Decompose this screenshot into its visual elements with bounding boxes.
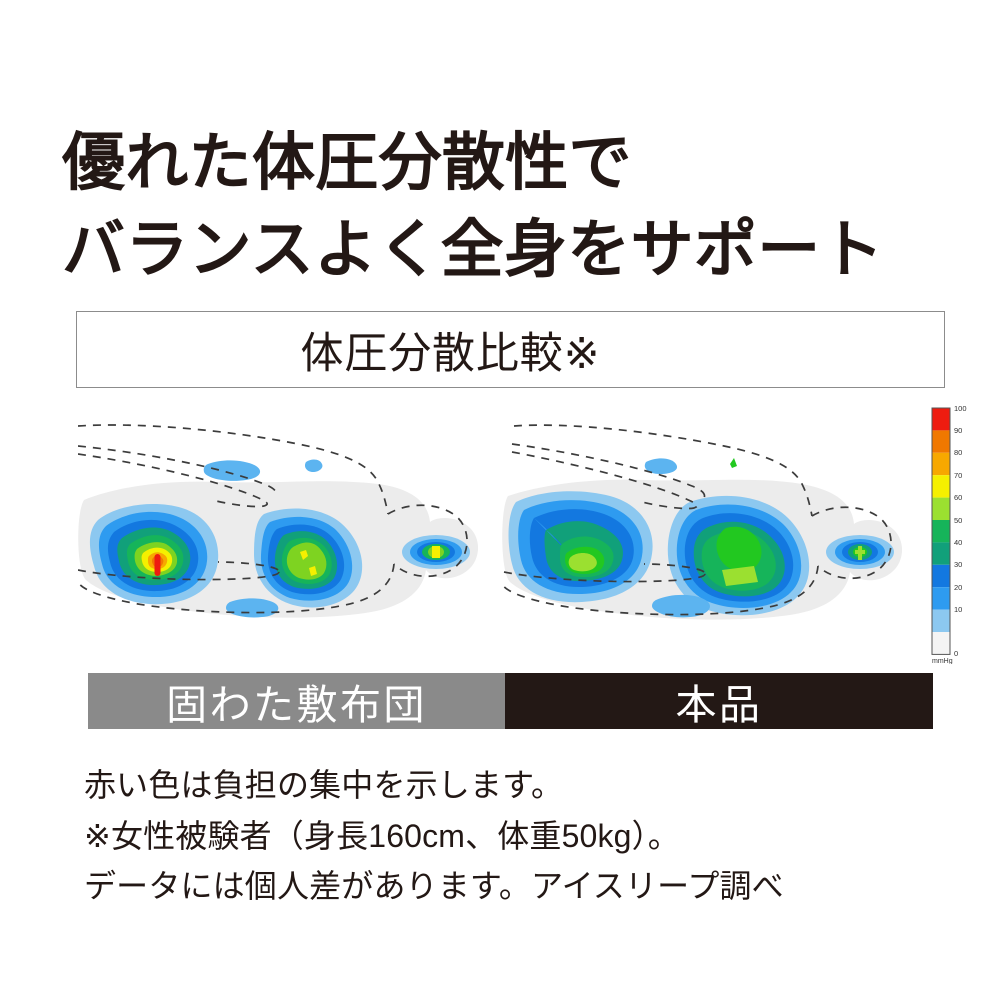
svg-text:60: 60: [954, 493, 962, 502]
svg-text:100: 100: [954, 404, 967, 413]
pressure-map-product: [500, 404, 922, 669]
pressure-peak-70-left-heel: [432, 546, 440, 558]
pressure-peak-60-right-shoulder: [569, 553, 597, 571]
svg-text:90: 90: [954, 426, 962, 435]
svg-text:0: 0: [954, 649, 958, 658]
pressure-peak-100-left-shoulder: [155, 554, 161, 576]
svg-text:80: 80: [954, 448, 962, 457]
label-bar-conventional-text: 固わた敷布団: [166, 671, 427, 731]
comparison-label-bars: 固わた敷布団 本品: [88, 673, 933, 729]
footnote-block: 赤い色は負担の集中を示します。 ※女性被験者（身長160cm、体重50kg）。 …: [84, 760, 924, 912]
heatmap-svg-right: [500, 404, 922, 669]
section-heading-label: 体圧分散比較※: [77, 319, 944, 381]
label-bar-conventional: 固わた敷布団: [88, 673, 505, 729]
colorbar-tick-labels: 100 90 80 70 60 50 40 30 20 10 0: [954, 404, 967, 658]
pressure-patch-left-head: [305, 460, 322, 472]
svg-text:40: 40: [954, 538, 962, 547]
colorbar-bands: [932, 408, 950, 654]
svg-text:20: 20: [954, 583, 962, 592]
footnote-line-2: ※女性被験者（身長160cm、体重50kg）。: [84, 811, 924, 862]
pressure-map-conventional: [78, 404, 500, 669]
pressure-marker-right-hip-top: [730, 458, 737, 468]
section-heading-box: 体圧分散比較※: [76, 311, 945, 388]
headline-line-1: 優れた体圧分散性で: [62, 120, 952, 207]
label-bar-product-text: 本品: [676, 671, 763, 731]
footnote-line-1: 赤い色は負担の集中を示します。: [84, 760, 924, 811]
label-bar-product: 本品: [505, 673, 933, 729]
colorbar-unit-label: mmHg: [932, 658, 953, 664]
colorbar-svg: 100 90 80 70 60 50 40 30 20 10 0 mmHg: [926, 402, 988, 664]
svg-text:30: 30: [954, 560, 962, 569]
page-title: 優れた体圧分散性で バランスよく全身をサポート: [62, 120, 952, 294]
svg-text:10: 10: [954, 605, 962, 614]
svg-text:70: 70: [954, 471, 962, 480]
footnote-line-3: データには個人差があります。アイスリープ調べ: [84, 861, 924, 912]
pressure-patch-left-upper: [204, 460, 260, 481]
pressure-map-container: [78, 404, 923, 669]
svg-text:50: 50: [954, 516, 962, 525]
heatmap-svg-left: [78, 404, 500, 669]
pressure-comparison-page: 優れた体圧分散性で バランスよく全身をサポート 体圧分散比較※: [0, 0, 1000, 1000]
headline-line-2: バランスよく全身をサポート: [62, 207, 952, 294]
colorbar-legend: 100 90 80 70 60 50 40 30 20 10 0 mmHg: [926, 402, 988, 664]
